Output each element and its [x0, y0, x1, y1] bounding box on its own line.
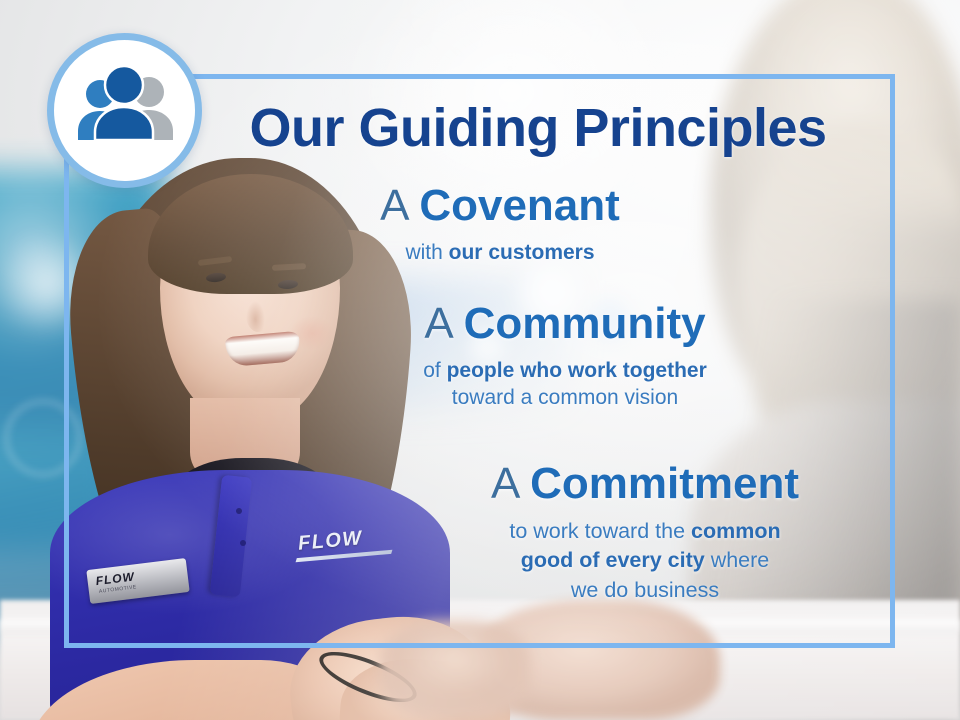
principle-keyword: Commitment — [530, 459, 799, 508]
people-group-icon — [74, 66, 176, 144]
associate-nose — [245, 290, 271, 332]
shirt-button — [236, 508, 242, 514]
principle-keyword: Community — [464, 299, 706, 348]
emphasis-text: our customers — [449, 241, 595, 264]
plain-text: of — [423, 359, 446, 382]
principle-subtext-line: good of every city where — [420, 546, 870, 576]
page-title: Our Guiding Principles — [218, 97, 858, 159]
principle-heading: A Covenant — [300, 182, 700, 230]
principle-block-covenant: A Covenant with our customers — [300, 182, 700, 266]
principle-subtext: of people who work togethertoward a comm… — [345, 357, 785, 413]
principle-subtext-line: toward a common vision — [345, 384, 785, 412]
principle-heading: A Community — [345, 300, 785, 348]
principle-subtext: with our customers — [300, 239, 700, 267]
principle-article: A — [491, 459, 530, 508]
plain-text: where — [705, 548, 770, 572]
principle-subtext-line: of people who work together — [345, 357, 785, 385]
principle-heading: A Commitment — [420, 460, 870, 508]
principle-article: A — [424, 299, 463, 348]
customer-hand-second — [380, 620, 530, 720]
principle-subtext-line: to work toward the common — [420, 517, 870, 547]
plain-text: toward a common vision — [452, 386, 678, 409]
emphasis-text: people who work together — [447, 359, 707, 382]
plain-text: to work toward the — [509, 519, 691, 543]
shirt-button — [240, 540, 246, 546]
principle-subtext-line: we do business — [420, 576, 870, 606]
principle-keyword: Covenant — [419, 181, 619, 230]
principle-block-commitment: A Commitment to work toward the commongo… — [420, 460, 870, 605]
principle-subtext-line: with our customers — [300, 239, 700, 267]
plain-text: we do business — [571, 578, 719, 602]
principle-block-community: A Community of people who work togethert… — [345, 300, 785, 412]
plain-text: with — [405, 241, 448, 264]
emphasis-text: common — [691, 519, 781, 543]
principle-article: A — [380, 181, 419, 230]
principle-subtext: to work toward the commongood of every c… — [420, 517, 870, 606]
emphasis-text: good of every city — [521, 548, 705, 572]
banner-canvas: FLOW AUTOMOTIVE FLOW Our Guiding Princip… — [0, 0, 960, 720]
